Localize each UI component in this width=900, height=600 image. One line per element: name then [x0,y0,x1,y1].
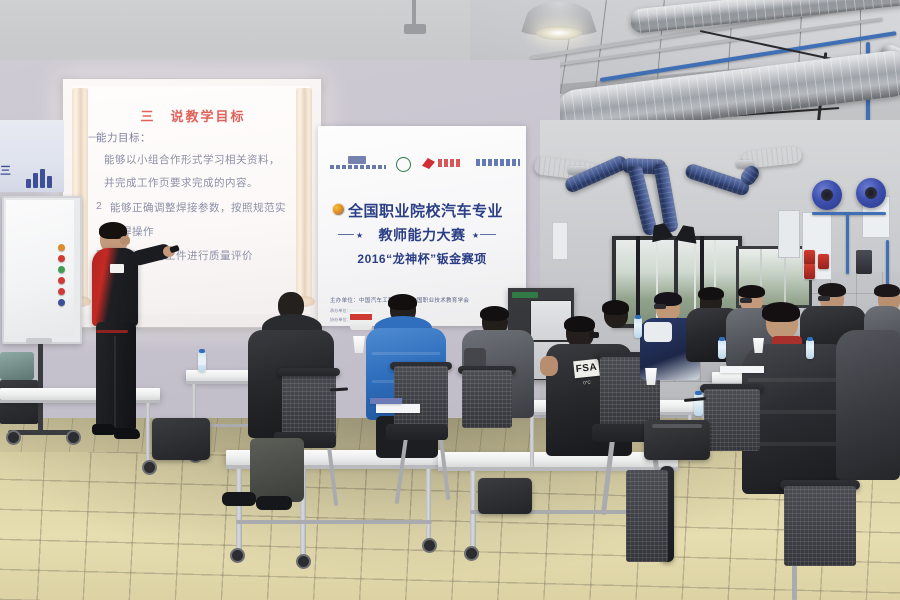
banner-star-right: ★ [472,231,479,240]
presenter-shoe [92,424,116,435]
presenter-shoe [114,428,140,439]
partner-logo [476,156,520,172]
table-caster [142,460,157,475]
power-socket[interactable] [804,264,815,279]
control-box[interactable] [778,210,800,258]
whiteboard-caster [6,430,21,445]
attendee-glasses [818,296,830,301]
air-regulator[interactable] [856,250,872,274]
welding-unit [0,352,34,380]
attendee-hair [388,294,417,310]
banner-subhead: 教师能力大赛 [318,225,526,245]
table-leg [236,469,242,553]
presenter-legs [96,322,136,430]
ring-logo [396,156,412,172]
banner-headline: 全国职业院校汽车专业 [348,200,503,221]
jacket-seam [372,352,440,355]
power-socket[interactable] [804,250,815,265]
puffer-seam [748,378,846,382]
classroom-scene: 三 说教学目标 一 能力目标： 能够以小组合作形式学习相关资料， 并完成工作页要… [0,0,900,600]
bottle-label [198,359,206,365]
blue-banner-bars [26,168,56,188]
slide-title: 三 说教学目标 [98,106,288,125]
paper-sheet[interactable] [720,366,764,373]
whiteboard-magnets[interactable] [58,244,66,308]
attendee-shoe [256,496,292,510]
table-leg [530,415,534,467]
attendee-scarf [644,322,672,342]
chair-top-rail [278,368,340,376]
water-bottle[interactable] [806,340,814,359]
chair-backrest[interactable] [704,389,760,451]
table-caster [464,546,479,561]
chair-leg [792,566,797,600]
chair-backrest[interactable] [394,366,448,428]
water-bottle[interactable] [634,318,642,338]
cabinet-door-seam [530,340,570,342]
chair-backrest[interactable] [282,372,336,436]
table-edge [0,400,160,403]
banner-event-line: 2016“龙神杯”钣金赛项 [318,250,526,267]
pendant-lamp-glow [536,26,582,40]
attendee-hair [480,306,509,321]
bottle-cap [199,349,205,353]
bottle-cap [635,315,641,319]
attendee-hair [698,287,724,300]
cabinet-label [512,292,538,298]
hose-reel[interactable] [812,180,842,210]
chair-backrest[interactable] [784,486,856,566]
puffer-seam [748,410,846,414]
banner-logo-row [330,156,510,178]
attendee-hair [564,316,595,332]
attendee-hand [540,356,558,376]
bag[interactable] [478,478,532,514]
banner-rule-right [480,234,496,235]
blue-service-pipe [886,240,889,288]
hose-reel[interactable] [856,178,886,208]
bucket-red-band [350,314,372,320]
table-row-2 [0,388,160,400]
table-rail [236,520,432,524]
slide-line-1: 能够以小组合作形式学习相关资料， [104,152,280,167]
puffer-seam [748,442,846,446]
presenter-badge [110,264,124,273]
chair-backrest[interactable] [626,470,668,562]
whiteboard-caster [66,430,81,445]
chair-backrest[interactable] [462,370,512,428]
shoulder-bag[interactable] [152,418,210,460]
chair-seat[interactable] [386,424,448,440]
extraction-support-pole [636,236,640,322]
clipboard[interactable] [370,398,402,404]
reel-supply-pipe [812,212,886,215]
attendee-shoulder [464,348,486,368]
power-socket[interactable] [818,254,829,269]
projector-rod [412,0,416,26]
presenter-leg-split [114,336,116,428]
attendee-shoe [222,492,256,506]
attendee-hair [762,302,800,322]
attendee-glasses [740,298,752,303]
attendee-glasses [654,304,666,309]
wall-alarm-box [552,222,568,260]
attendee-legs [250,438,304,502]
bag-handle [652,424,702,428]
banner-emblem-icon [332,203,345,216]
attendee-body [836,330,900,480]
blue-banner-glyph: 三 [0,162,20,172]
china-sae-logo [330,156,386,172]
bottle-cap [719,337,725,341]
paper-sheet[interactable] [376,404,420,413]
table-caster [422,538,437,553]
attendee-glasses [589,332,599,338]
slide-subtitle: 能力目标： [96,130,151,145]
slide-line-2: 并完成工作页要求完成的内容。 [104,175,258,190]
table-leg [146,403,150,463]
attendee-hair [874,284,900,297]
slide-number-2: 2 [96,200,102,212]
slide-line-3: 能够正确调整焊接参数，按照规范实 [110,200,286,215]
bottle-cap [807,337,813,341]
bottle-cap [695,391,702,395]
presenter-face-profile [120,236,130,245]
table-leg [426,469,431,543]
slide-column-ornament-right [296,88,312,304]
longshen-logo [422,156,464,172]
fsa-patch-text: FSA [573,359,600,379]
attendee-hair [602,300,629,315]
water-bottle[interactable] [718,340,726,359]
presenter-trouser-stripe [96,330,128,333]
attendee-hair [818,283,846,297]
attendee-hair [738,285,765,298]
table-caster [230,548,245,563]
table-caster [296,554,311,569]
reel-supply-pipe [846,212,849,274]
